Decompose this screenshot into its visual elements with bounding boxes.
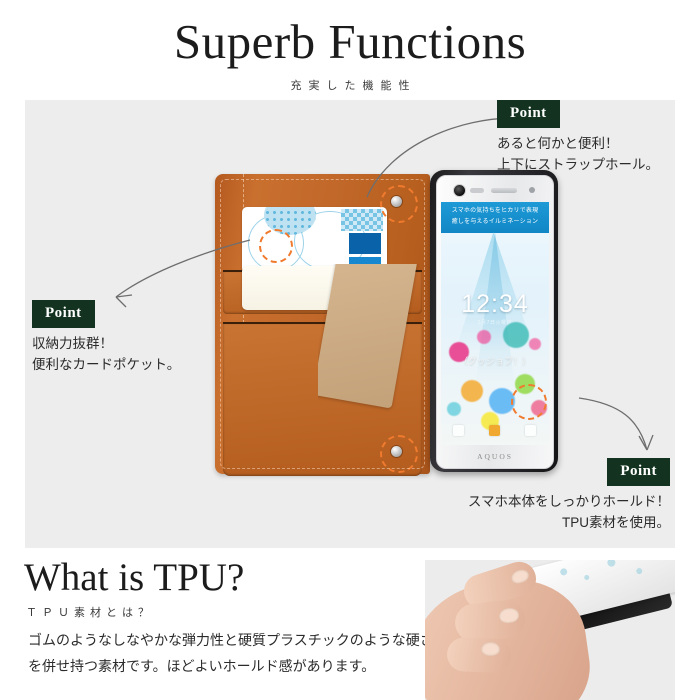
proximity-sensor-icon <box>470 188 484 193</box>
tpu-subtitle: ＴＰＵ素材とは？ <box>26 604 154 620</box>
notification-led-icon <box>529 187 535 193</box>
tpu-edge-highlight-icon <box>511 384 547 420</box>
wallpaper-label: （グッジョブ！） <box>441 354 549 367</box>
tpu-flex-photo <box>425 560 675 700</box>
middle-finger <box>446 637 511 673</box>
card-pocket-highlight-icon <box>259 229 293 263</box>
lockscreen-date: 3月7日火曜日 <box>441 319 549 326</box>
card-kraft-paper <box>318 264 423 409</box>
screen-banner: スマホの気持ちをヒカリで表現 癒しを与えるイルミネーション <box>441 202 549 233</box>
camera-dock-icon <box>525 425 536 436</box>
callout-tpu-hold: Point スマホ本体をしっかりホールド！ TPU素材を使用。 <box>455 458 670 534</box>
phone-top-bezel <box>437 176 553 202</box>
tpu-title: What is TPU? <box>24 558 244 597</box>
product-feature-page: Superb Functions 充実した機能性 <box>0 0 700 700</box>
kraft-pocket-mask <box>318 264 438 479</box>
lock-icon <box>489 425 500 436</box>
screen-banner-line1: スマホの気持ちをヒカリで表現 <box>441 206 549 217</box>
callout-line-1: あると何かと便利！ <box>497 134 659 155</box>
phone-dock-icon <box>453 425 464 436</box>
card-check-pattern <box>341 209 383 231</box>
callout-line-1: 収納力抜群！ <box>32 334 180 355</box>
page-subtitle: 充実した機能性 <box>0 66 700 93</box>
fingernail <box>481 642 500 656</box>
screen-banner-line2: 癒しを与えるイルミネーション <box>441 217 549 228</box>
page-header: Superb Functions 充実した機能性 <box>0 0 700 100</box>
callout-line-2: 上下にストラップホール。 <box>497 155 659 176</box>
callout-card-pocket: Point 収納力抜群！ 便利なカードポケット。 <box>32 300 180 376</box>
leather-wallet-cover <box>215 174 430 474</box>
lockscreen-dock <box>441 425 549 439</box>
tpu-explainer-section: What is TPU? ＴＰＵ素材とは？ ゴムのようなしなやかな弾力性と硬質プ… <box>0 548 700 700</box>
point-badge: Point <box>32 300 95 328</box>
lockscreen-clock: 12:34 <box>441 290 549 319</box>
card-blue-block <box>349 233 381 254</box>
callout-line-2: 便利なカードポケット。 <box>32 355 180 376</box>
point-badge: Point <box>607 458 670 486</box>
wallet-case-photo: スマホの気持ちをヒカリで表現 癒しを与えるイルミネーション 12:34 3月7日… <box>185 162 605 482</box>
strap-hole-highlight-bottom-icon <box>380 435 418 473</box>
strap-hole-highlight-top-icon <box>380 185 418 223</box>
earpiece-speaker-icon <box>491 188 517 193</box>
tpu-case-shell: スマホの気持ちをヒカリで表現 癒しを与えるイルミネーション 12:34 3月7日… <box>430 170 558 472</box>
front-camera-icon <box>453 184 466 197</box>
callout-line-1: スマホ本体をしっかりホールド！ <box>455 492 670 513</box>
smartphone-body: スマホの気持ちをヒカリで表現 癒しを与えるイルミネーション 12:34 3月7日… <box>436 175 554 469</box>
page-title: Superb Functions <box>0 0 700 66</box>
callout-line-2: TPU素材を使用。 <box>455 513 670 534</box>
tpu-body-text: ゴムのようなしなやかな弾力性と硬質プラスチックのような硬さを併せ持つ素材です。ほ… <box>28 628 438 680</box>
callout-strap-hole: Point あると何かと便利！ 上下にストラップホール。 <box>497 100 659 176</box>
phone-back-pattern <box>528 560 675 569</box>
point-badge: Point <box>497 100 560 128</box>
